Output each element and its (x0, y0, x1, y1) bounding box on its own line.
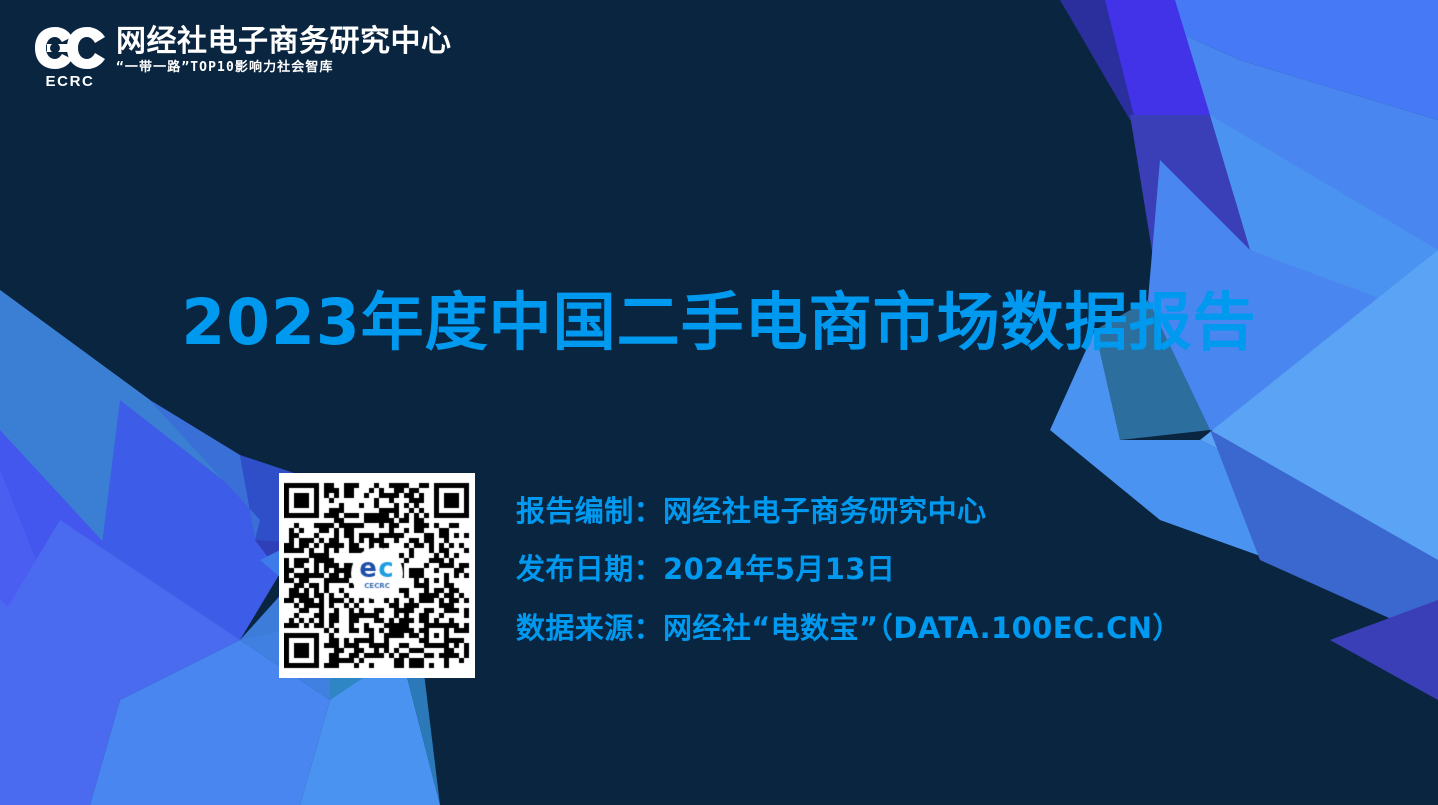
meta-line-author: 报告编制：网经社电子商务研究中心 (516, 495, 1182, 527)
meta-value-author: 网经社电子商务研究中心 (663, 494, 986, 528)
org-tagline-label: “一带一路”TOP10影响力社会智库 (116, 61, 452, 75)
ecrc-abbrev-label: ECRC (46, 74, 95, 89)
report-cover-slide: ECRC 网经社电子商务研究中心 “一带一路”TOP10影响力社会智库 2023… (0, 0, 1438, 805)
report-title: 2023年度中国二手电商市场数据报告 (0, 288, 1438, 359)
qr-code-canvas (284, 478, 470, 673)
org-name-label: 网经社电子商务研究中心 (116, 26, 452, 58)
background-polygon-art (0, 0, 1438, 805)
qr-code[interactable] (279, 473, 475, 678)
ec-monogram-icon: ECRC (33, 24, 107, 89)
meta-line-source: 数据来源：网经社“电数宝”（DATA.100EC.CN） (516, 612, 1182, 644)
meta-label-author: 报告编制： (516, 494, 663, 528)
meta-label-date: 发布日期： (516, 552, 663, 586)
meta-value-date: 2024年5月13日 (663, 552, 895, 586)
ec-glyph-icon (33, 24, 107, 72)
meta-label-source: 数据来源： (516, 611, 663, 645)
ecrc-logo: ECRC 网经社电子商务研究中心 “一带一路”TOP10影响力社会智库 (33, 24, 452, 89)
meta-value-source: 网经社“电数宝”（DATA.100EC.CN） (663, 611, 1182, 645)
logo-wordmark: 网经社电子商务研究中心 “一带一路”TOP10影响力社会智库 (116, 24, 452, 75)
meta-line-date: 发布日期：2024年5月13日 (516, 553, 1182, 585)
report-meta-list: 报告编制：网经社电子商务研究中心 发布日期：2024年5月13日 数据来源：网经… (516, 495, 1182, 644)
